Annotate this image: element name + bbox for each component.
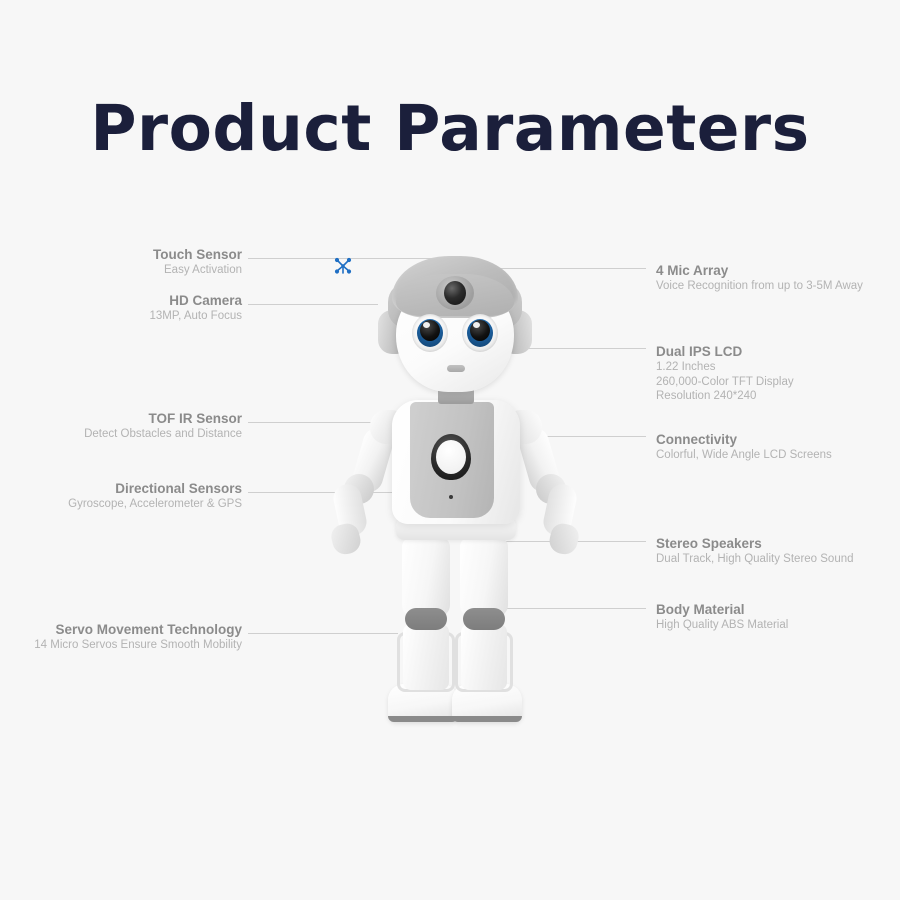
callout-4-mic-array: 4 Mic Array Voice Recognition from up to… (656, 262, 863, 294)
callout-dual-ips-lcd: Dual IPS LCD 1.22 Inches 260,000-Color T… (656, 343, 794, 404)
callout-subtitle: Easy Activation (20, 263, 242, 278)
camera-lens-icon (444, 281, 466, 305)
callout-title: Dual IPS LCD (656, 343, 794, 360)
callout-touch-sensor: Touch Sensor Easy Activation (20, 246, 242, 278)
callout-title: Servo Movement Technology (2, 621, 242, 638)
callout-subtitle: Detect Obstacles and Distance (10, 427, 242, 442)
robot-thigh-right (460, 537, 508, 617)
robot-shin-left (403, 624, 449, 690)
callout-title: Stereo Speakers (656, 535, 854, 552)
callout-subtitle-line-3: Resolution 240*240 (656, 389, 794, 404)
robot-chest-indicator-dot (449, 495, 453, 499)
callout-subtitle: High Quality ABS Material (656, 618, 788, 633)
robot-chest-badge-inner (436, 440, 466, 474)
brand-logo-icon (330, 252, 356, 280)
robot-illustration (330, 252, 580, 762)
robot-shin-right (461, 624, 507, 690)
callout-stereo-speakers: Stereo Speakers Dual Track, High Quality… (656, 535, 854, 567)
callout-subtitle-line-2: 260,000-Color TFT Display (656, 375, 794, 390)
callout-title: Connectivity (656, 431, 832, 448)
robot-knee-pad-right (463, 608, 505, 630)
robot-eye-glint-right (473, 322, 480, 328)
callout-subtitle: 14 Micro Servos Ensure Smooth Mobility (2, 638, 242, 653)
robot-mouth (447, 365, 465, 372)
callout-title: HD Camera (20, 292, 242, 309)
callout-directional-sensors: Directional Sensors Gyroscope, Accelerom… (8, 480, 242, 512)
callout-servo-movement-technology: Servo Movement Technology 14 Micro Servo… (2, 621, 242, 653)
callout-connectivity: Connectivity Colorful, Wide Angle LCD Sc… (656, 431, 832, 463)
callout-title: TOF IR Sensor (10, 410, 242, 427)
callout-title: Directional Sensors (8, 480, 242, 497)
robot-knee-pad-left (405, 608, 447, 630)
callout-subtitle: Colorful, Wide Angle LCD Screens (656, 448, 832, 463)
callout-title: Touch Sensor (20, 246, 242, 263)
callout-subtitle: Gyroscope, Accelerometer & GPS (8, 497, 242, 512)
callout-hd-camera: HD Camera 13MP, Auto Focus (20, 292, 242, 324)
robot-eye-glint-left (423, 322, 430, 328)
callout-subtitle: 13MP, Auto Focus (20, 309, 242, 324)
callout-subtitle-line-1: 1.22 Inches (656, 360, 794, 375)
callout-title: 4 Mic Array (656, 262, 863, 279)
page-title: Product Parameters (0, 92, 900, 165)
callout-subtitle: Voice Recognition from up to 3-5M Away (656, 279, 863, 294)
robot-sole-left (388, 716, 458, 722)
robot-sole-right (452, 716, 522, 722)
callout-subtitle: Dual Track, High Quality Stereo Sound (656, 552, 854, 567)
callout-title: Body Material (656, 601, 788, 618)
robot-thigh-left (402, 537, 450, 617)
callout-tof-ir-sensor: TOF IR Sensor Detect Obstacles and Dista… (10, 410, 242, 442)
product-parameters-page: Product Parameters Touch Sensor Easy Act… (0, 0, 900, 900)
callout-body-material: Body Material High Quality ABS Material (656, 601, 788, 633)
